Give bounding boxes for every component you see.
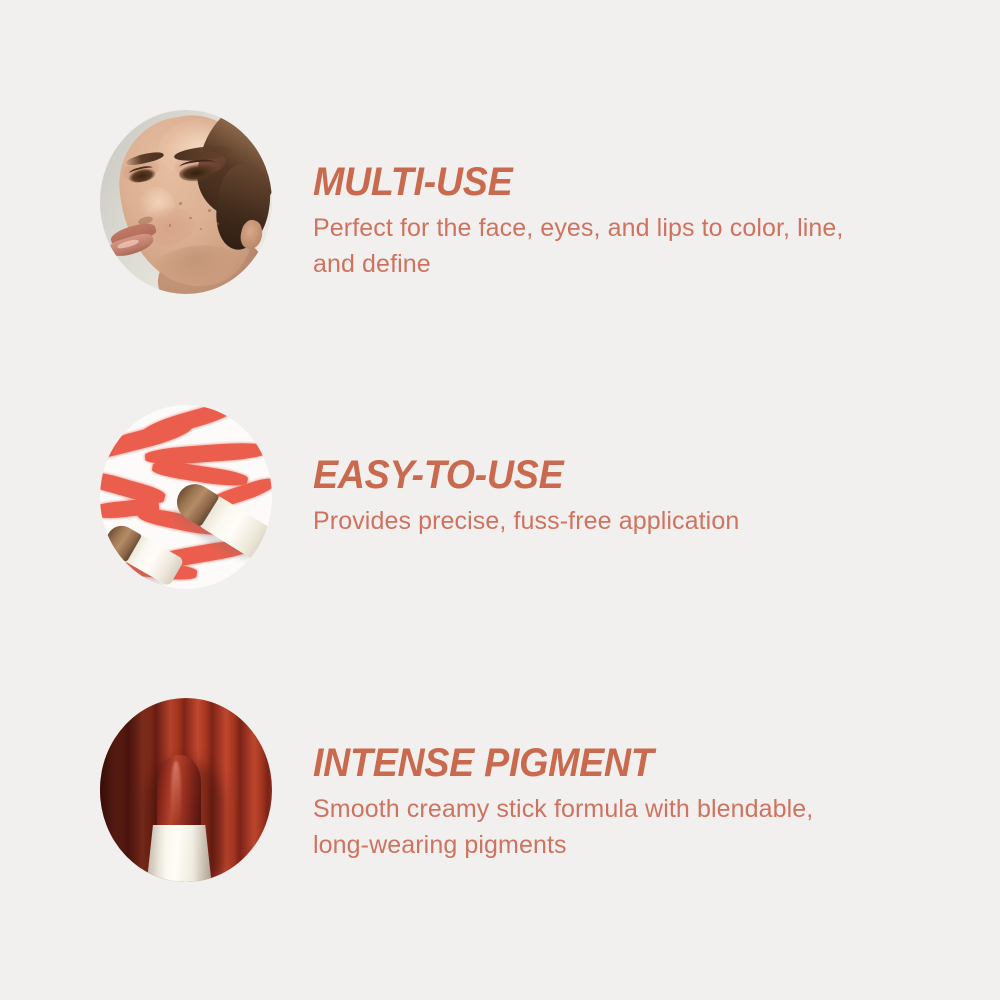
swatch-sticks-photo <box>100 405 272 589</box>
portrait-freckle <box>179 202 182 205</box>
feature-media-multi-use <box>100 110 272 294</box>
feature-description-multi-use: Perfect for the face, eyes, and lips to … <box>313 210 858 282</box>
feature-media-intense-pigment <box>100 698 272 882</box>
feature-text-multi-use: MULTI-USE Perfect for the face, eyes, an… <box>313 110 1000 282</box>
model-portrait-photo <box>100 110 272 294</box>
feature-text-easy-to-use: EASY-TO-USE Provides precise, fuss-free … <box>313 405 1000 539</box>
product-benefits-page: MULTI-USE Perfect for the face, eyes, an… <box>0 0 1000 1000</box>
portrait-freckle <box>208 209 211 212</box>
feature-description-intense-pigment: Smooth creamy stick formula with blendab… <box>313 791 858 863</box>
feature-title-easy-to-use: EASY-TO-USE <box>313 455 959 495</box>
feature-block-easy-to-use: EASY-TO-USE Provides precise, fuss-free … <box>0 405 1000 589</box>
feature-text-intense-pigment: INTENSE PIGMENT Smooth creamy stick form… <box>313 698 1000 863</box>
portrait-freckle <box>169 224 172 227</box>
feature-title-multi-use: MULTI-USE <box>313 162 959 202</box>
lipstick-base-shading <box>146 825 211 882</box>
feature-title-intense-pigment: INTENSE PIGMENT <box>313 743 959 783</box>
lipstick-gloss-highlight <box>171 761 181 824</box>
feature-block-intense-pigment: INTENSE PIGMENT Smooth creamy stick form… <box>0 698 1000 882</box>
feature-block-multi-use: MULTI-USE Perfect for the face, eyes, an… <box>0 110 1000 294</box>
lipstick-bullet-photo <box>100 698 272 882</box>
feature-description-easy-to-use: Provides precise, fuss-free application <box>313 503 858 539</box>
feature-media-easy-to-use <box>100 405 272 589</box>
